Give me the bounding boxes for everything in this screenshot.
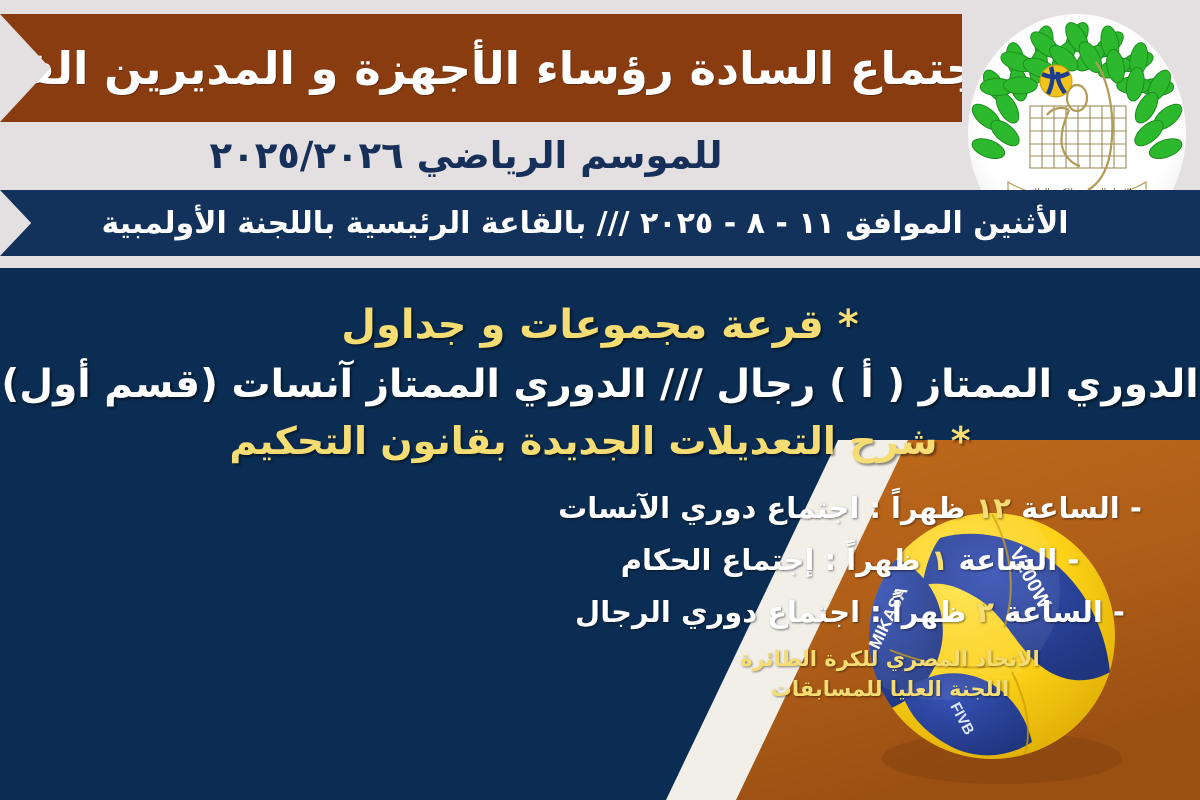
schedule-row-men: - الساعة ٢ ظهراً : اجتماع دوري الرجال bbox=[500, 595, 1200, 629]
agenda-item-rules-text: شرح التعديلات الجديدة بقانون التحكيم bbox=[229, 419, 937, 463]
date-venue-bar: الأثنين الموافق ١١ - ٨ - ٢٠٢٥ /// بالقاع… bbox=[0, 190, 1200, 256]
footer-federation-name: الاتحاد المصري للكرة الطائرة bbox=[580, 647, 1200, 671]
season-line: للموسم الرياضي ٢٠٢٥/٢٠٢٦ bbox=[0, 124, 962, 186]
agenda-content: * قرعة مجموعات و جداول الدوري الممتاز ( … bbox=[0, 268, 1200, 707]
agenda-item-leagues: الدوري الممتاز ( أ ) رجال /// الدوري الم… bbox=[0, 362, 1200, 407]
schedule-row-referees-time: ١ bbox=[931, 543, 949, 577]
schedule-row-referees-prefix: - الساعة bbox=[959, 543, 1080, 577]
schedule-row-referees: - الساعة ١ ظهراً : إجتماع الحكام bbox=[500, 543, 1200, 577]
small-volleyball-icon bbox=[1040, 65, 1072, 97]
schedule-row-women-prefix: - الساعة bbox=[1021, 491, 1142, 525]
footer-committee-name: اللجنة العليا للمسابقات bbox=[580, 677, 1200, 701]
agenda-item-leagues-text: الدوري الممتاز ( أ ) رجال /// الدوري الم… bbox=[1, 362, 1198, 407]
season-text: للموسم الرياضي ٢٠٢٥/٢٠٢٦ bbox=[210, 134, 753, 177]
agenda-item-rules: * شرح التعديلات الجديدة بقانون التحكيم bbox=[0, 419, 1200, 463]
page-title: اجتماع السادة رؤساء الأجهزة و المديرين ا… bbox=[0, 42, 1034, 95]
schedule-list: - الساعة ١٢ ظهراً : اجتماع دوري الآنسات … bbox=[0, 491, 1200, 629]
date-venue-text: الأثنين الموافق ١١ - ٨ - ٢٠٢٥ /// بالقاع… bbox=[101, 206, 1098, 241]
schedule-row-women-time: ١٢ bbox=[976, 491, 1011, 525]
footer-signature: الاتحاد المصري للكرة الطائرة اللجنة العل… bbox=[0, 647, 1200, 701]
schedule-row-women: - الساعة ١٢ ظهراً : اجتماع دوري الآنسات bbox=[500, 491, 1200, 525]
body-area: MIKASA V200W FIVB * قرعة مجموعات و جداول… bbox=[0, 268, 1200, 800]
schedule-row-men-prefix: - الساعة bbox=[1004, 595, 1125, 629]
schedule-row-referees-suffix: ظهراً : إجتماع الحكام bbox=[621, 543, 921, 577]
schedule-row-men-suffix: ظهراً : اجتماع دوري الرجال bbox=[575, 595, 966, 629]
agenda-item-draw: * قرعة مجموعات و جداول bbox=[0, 302, 1200, 348]
schedule-row-men-time: ٢ bbox=[976, 595, 994, 629]
agenda-item-draw-bullet: * bbox=[838, 302, 859, 348]
schedule-row-women-suffix: ظهراً : اجتماع دوري الآنسات bbox=[558, 491, 965, 525]
agenda-item-draw-text: قرعة مجموعات و جداول bbox=[341, 302, 824, 348]
announcement-poster: الاتحاد المصري للكرة الطائرة EGYPTIAN VO… bbox=[0, 0, 1200, 800]
agenda-item-rules-bullet: * bbox=[951, 419, 971, 463]
header-band: الاتحاد المصري للكرة الطائرة EGYPTIAN VO… bbox=[0, 0, 1200, 268]
title-bar: اجتماع السادة رؤساء الأجهزة و المديرين ا… bbox=[0, 14, 962, 122]
